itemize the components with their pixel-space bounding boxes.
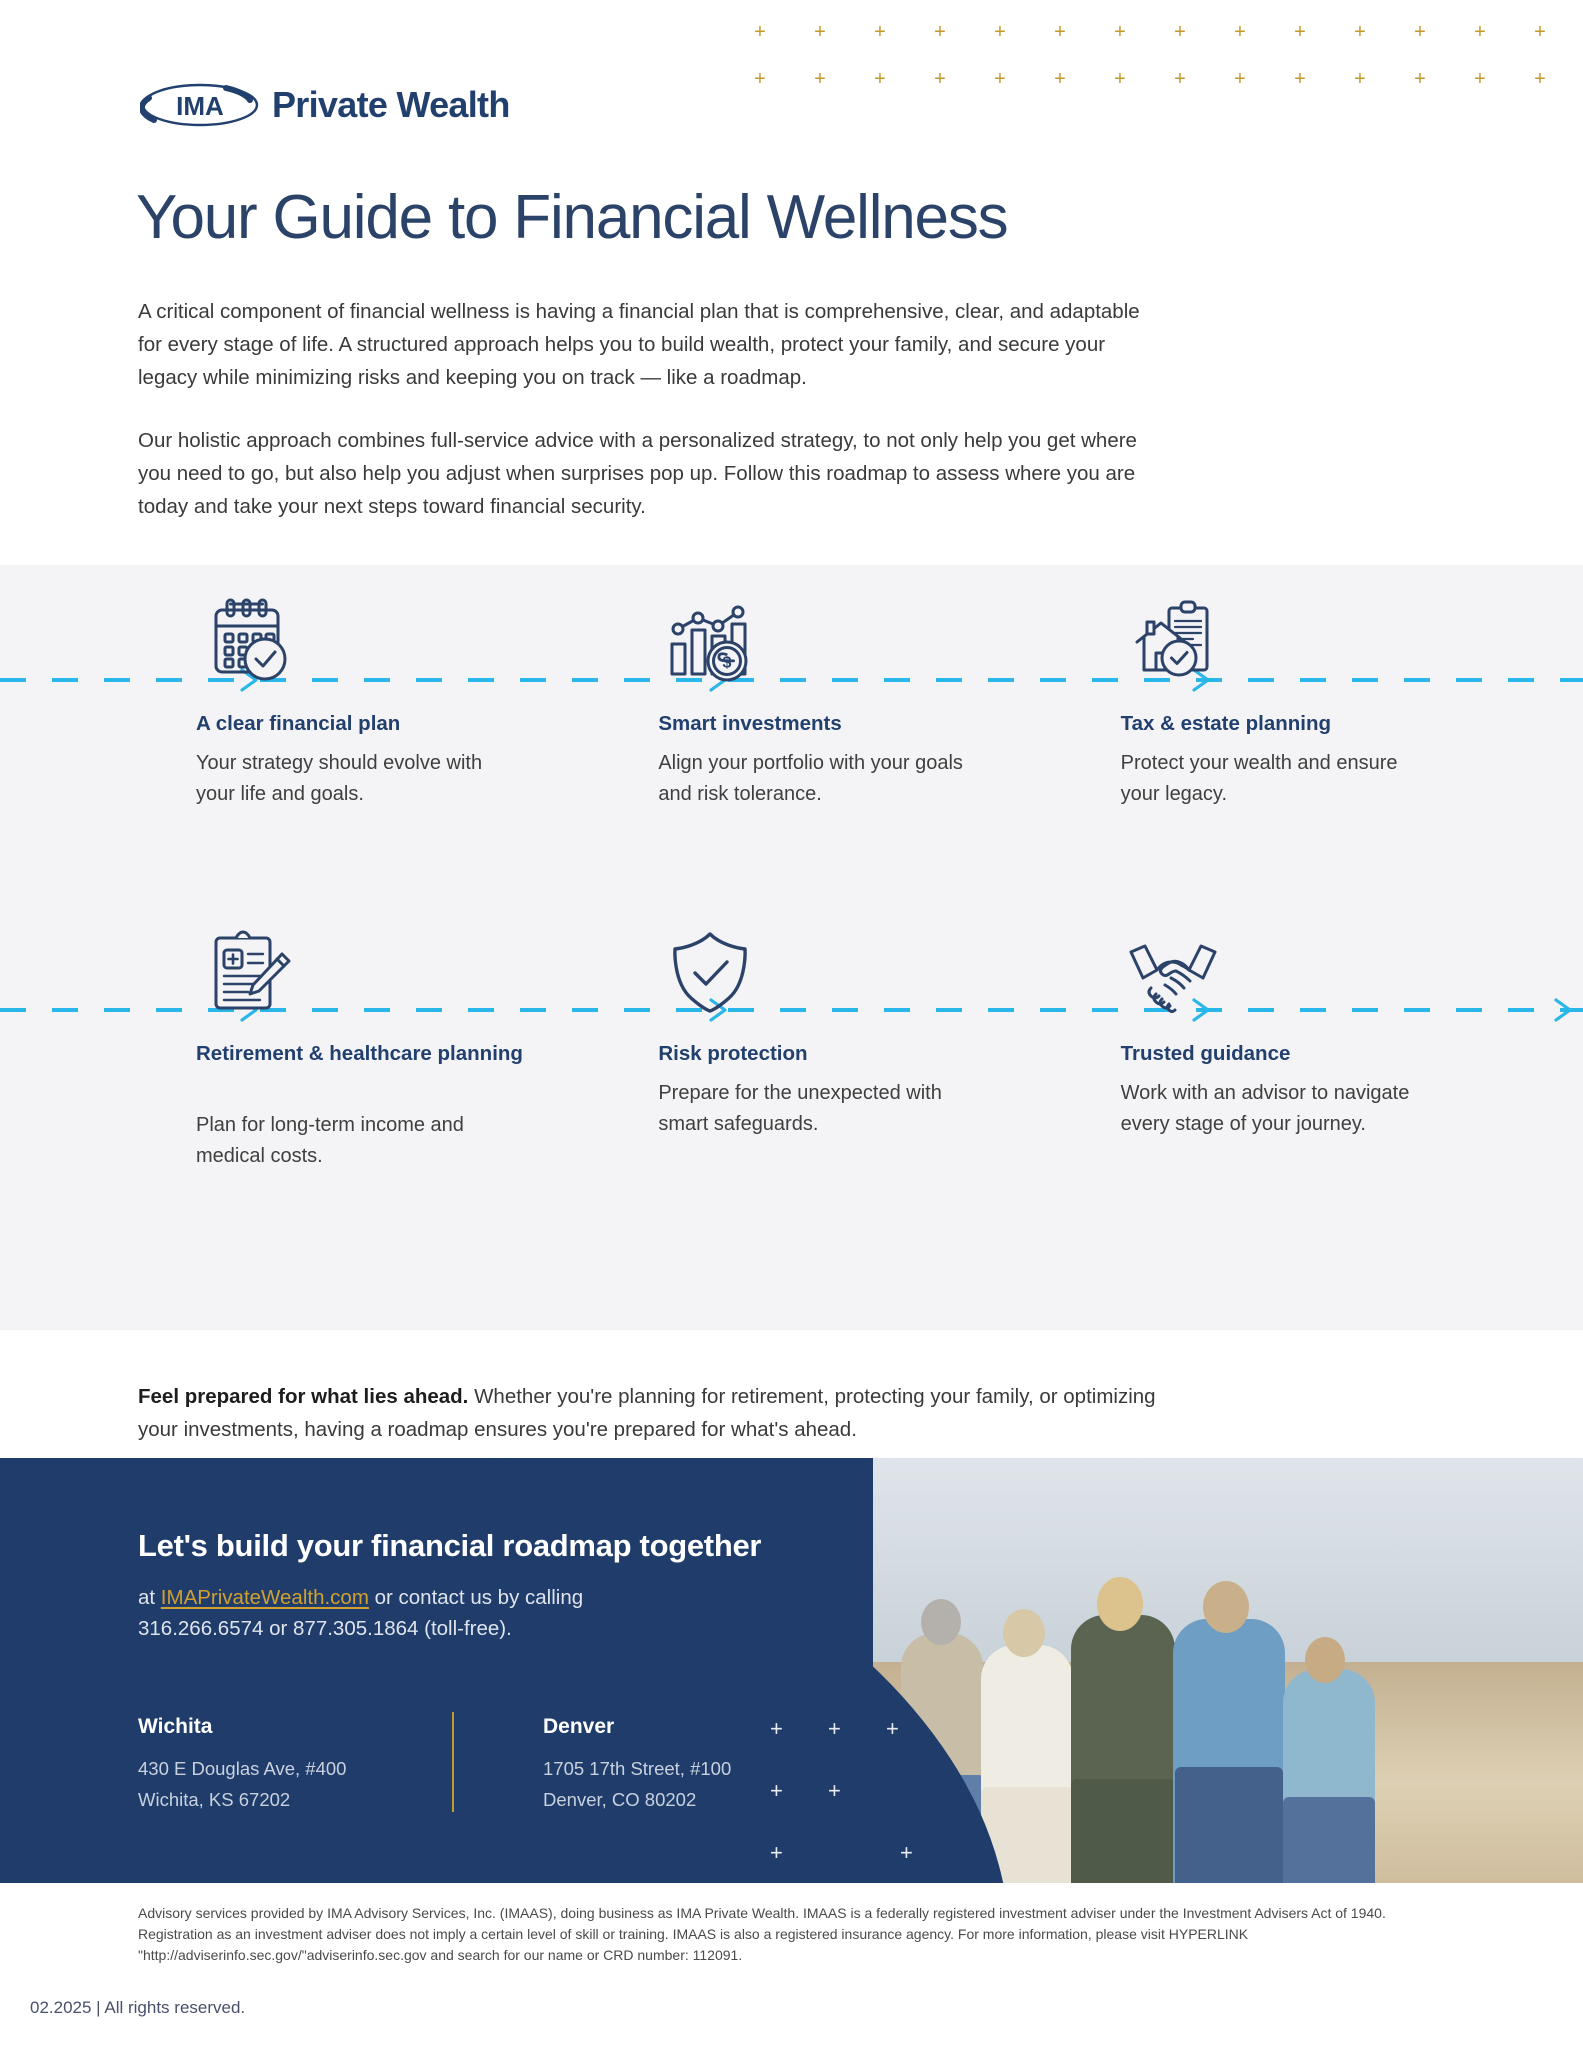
office-card: Wichita 430 E Douglas Ave, #400 Wichita,… (138, 1715, 448, 1815)
roadmap-step-title: A clear financial plan (196, 708, 526, 739)
roadmap-step-title: Trusted guidance (1121, 1038, 1451, 1069)
roadmap-step-description: Work with an advisor to navigate every s… (1121, 1078, 1431, 1140)
cta-after-link: or contact us by calling (369, 1586, 583, 1609)
office-city: Denver (543, 1715, 853, 1739)
roadmap-step-title: Tax & estate planning (1121, 708, 1451, 739)
office-address-line-1: 1705 17th Street, #100 (543, 1753, 853, 1784)
office-address-line-1: 430 E Douglas Ave, #400 (138, 1753, 448, 1784)
person-head (1305, 1637, 1345, 1683)
svg-text:$: $ (723, 655, 732, 672)
plus-icon: + (1294, 69, 1306, 89)
roadmap-step-description: Plan for long-term income and medical co… (196, 1110, 506, 1172)
person-head (1097, 1577, 1143, 1631)
ima-logo-icon: IMA (140, 82, 260, 128)
roadmap-step-title: Risk protection (658, 1038, 988, 1069)
person-legs (1071, 1779, 1175, 1883)
plus-icon: + (1234, 69, 1246, 89)
intro-copy: A critical component of financial wellne… (138, 295, 1148, 523)
roadmap-row-1: A clear financial plan Your strategy sho… (0, 590, 1583, 930)
office-card: Denver 1705 17th Street, #100 Denver, CO… (543, 1715, 853, 1815)
office-city: Wichita (138, 1715, 448, 1739)
intro-paragraph-2: Our holistic approach combines full-serv… (138, 424, 1148, 523)
calendar-check-icon (196, 590, 300, 694)
plus-icon: + (1354, 22, 1366, 42)
intro-paragraph-1: A critical component of financial wellne… (138, 295, 1148, 394)
legal-disclaimer: Advisory services provided by IMA Adviso… (138, 1903, 1458, 1966)
office-locations: Wichita 430 E Douglas Ave, #400 Wichita,… (138, 1715, 853, 1815)
flyer-page: + + + + + + + + + + + + + + + + + + + + … (0, 0, 1583, 2048)
plus-icon: + (814, 22, 826, 42)
roadmap-row-2: Retirement & healthcare planning Plan fo… (0, 920, 1583, 1260)
plus-icon: + (1534, 22, 1546, 42)
plus-icon: + (1054, 69, 1066, 89)
plus-icon: + (900, 1840, 913, 1866)
cta-content: Let's build your financial roadmap toget… (138, 1528, 761, 1644)
plus-icon: + (1054, 22, 1066, 42)
roadmap-step-description: Align your portfolio with your goals and… (658, 748, 968, 810)
cta-band: + + + + + + + (0, 1458, 1583, 1883)
roadmap-step-title: Smart investments (658, 708, 988, 739)
plus-icon: + (1474, 69, 1486, 89)
person-head (1203, 1581, 1249, 1633)
closing-lead: Feel prepared for what lies ahead. (138, 1385, 468, 1408)
plus-icon: + (1114, 22, 1126, 42)
plus-icon: + (874, 69, 886, 89)
plus-icon: + (934, 22, 946, 42)
plus-icon: + (754, 69, 766, 89)
person-legs (1283, 1797, 1375, 1883)
plus-icon: + (1234, 22, 1246, 42)
cta-navy-curve (0, 1458, 1010, 1883)
roadmap-step-description: Your strategy should evolve with your li… (196, 748, 506, 810)
cta-heading: Let's build your financial roadmap toget… (138, 1528, 761, 1564)
shield-check-icon (658, 920, 762, 1024)
plus-icon: + (1474, 22, 1486, 42)
plus-icon: + (1414, 22, 1426, 42)
bar-chart-dollar-icon: $ (658, 590, 762, 694)
cta-subtext: at IMAPrivateWealth.com or contact us by… (138, 1582, 761, 1644)
plus-icon: + (1174, 69, 1186, 89)
roadmap-panel: A clear financial plan Your strategy sho… (0, 565, 1583, 1330)
plus-icon: + (770, 1840, 783, 1866)
person-legs (1175, 1767, 1283, 1883)
plus-icon: + (994, 22, 1006, 42)
plus-icon: + (814, 69, 826, 89)
plus-icon: + (1294, 22, 1306, 42)
brand-logo: IMA Private Wealth (140, 82, 510, 128)
plus-icon: + (1114, 69, 1126, 89)
cta-phone-numbers: 316.266.6574 or 877.305.1864 (toll-free)… (138, 1617, 512, 1640)
plus-icon: + (1174, 22, 1186, 42)
plus-icon: + (886, 1716, 899, 1742)
website-link[interactable]: IMAPrivateWealth.com (161, 1586, 369, 1609)
plus-icon: + (1414, 69, 1426, 89)
logo-wordmark: Private Wealth (272, 84, 510, 126)
plus-icon: + (874, 22, 886, 42)
arrow-right-icon (1552, 994, 1576, 1026)
person-head (1003, 1609, 1045, 1657)
plus-icon: + (754, 22, 766, 42)
medical-clipboard-pencil-icon (196, 920, 300, 1024)
office-address-line-2: Denver, CO 80202 (543, 1784, 853, 1815)
copyright-notice: 02.2025 | All rights reserved. (30, 1998, 245, 2018)
plus-icon: + (994, 69, 1006, 89)
plus-icon: + (934, 69, 946, 89)
roadmap-step-description: Prepare for the unexpected with smart sa… (658, 1078, 968, 1140)
roadmap-step-description: Protect your wealth and ensure your lega… (1121, 748, 1431, 810)
decorative-plus-pattern-top: + + + + + + + + + + + + + + + + + + + + … (730, 8, 1570, 103)
plus-icon: + (1534, 69, 1546, 89)
office-address-line-2: Wichita, KS 67202 (138, 1784, 448, 1815)
plus-icon: + (1354, 69, 1366, 89)
svg-text:IMA: IMA (176, 91, 224, 121)
person-head (921, 1599, 961, 1645)
cta-before-link: at (138, 1586, 161, 1609)
roadmap-step-title: Retirement & healthcare planning (196, 1038, 526, 1069)
closing-statement: Feel prepared for what lies ahead. Wheth… (138, 1380, 1178, 1446)
handshake-icon (1121, 920, 1225, 1024)
house-clipboard-check-icon (1121, 590, 1225, 694)
page-title: Your Guide to Financial Wellness (136, 182, 1007, 253)
